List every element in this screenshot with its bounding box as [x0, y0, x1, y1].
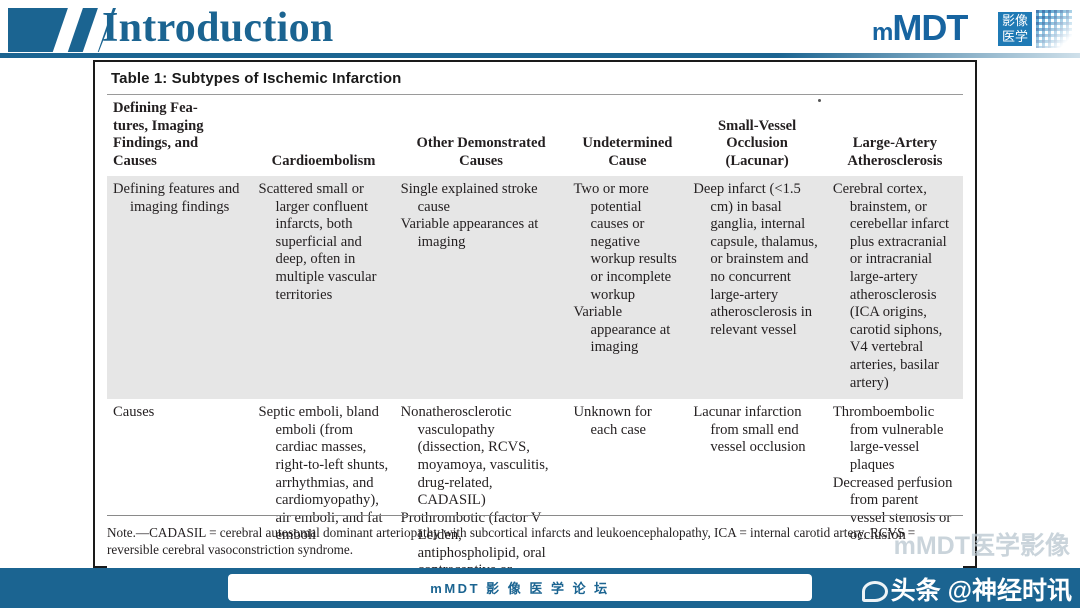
table-row: Defining features and imaging findingsSc…	[107, 176, 963, 399]
note-divider	[107, 515, 963, 516]
row-label-cell: Defining features and imaging findings	[107, 176, 253, 399]
slide-header: Introduction mMDT 影像 医学	[0, 0, 1080, 57]
stray-dot-artifact	[818, 99, 821, 102]
table-cell: Cerebral cortex, brainstem, or cerebella…	[827, 176, 963, 399]
cell-paragraph: Nonatherosclerotic vasculopathy (dissect…	[401, 404, 562, 510]
logo-pixel-grid-icon	[1036, 10, 1072, 48]
table-head: Defining Fea-tures, ImagingFindings, and…	[107, 95, 963, 176]
logo-chinese-badge: 影像 医学	[998, 12, 1032, 46]
table-cell: Scattered small or larger confluent infa…	[253, 176, 395, 399]
column-header-0: Defining Fea-tures, ImagingFindings, and…	[107, 95, 253, 176]
table-card: Table 1: Subtypes of Ischemic Infarction…	[93, 60, 977, 568]
cell-paragraph: Deep infarct (<1.5 cm) in basal ganglia,…	[693, 181, 821, 339]
row-label: Causes	[113, 404, 247, 422]
mmdt-logo: mMDT 影像 医学	[872, 6, 1072, 52]
footer-pill: mMDT 影 像 医 学 论 坛	[228, 574, 812, 601]
column-header-3: UndeterminedCause	[568, 95, 688, 176]
footer-bar: mMDT 影 像 医 学 论 坛	[0, 568, 1080, 608]
table-title: Table 1: Subtypes of Ischemic Infarction	[107, 62, 963, 94]
cell-paragraph: Unknown for each case	[574, 404, 682, 439]
logo-main: MDT	[892, 7, 967, 48]
table-header-row: Defining Fea-tures, ImagingFindings, and…	[107, 95, 963, 176]
column-header-2: Other DemonstratedCauses	[395, 95, 568, 176]
logo-cn-line1: 影像	[998, 13, 1032, 29]
header-decoration	[8, 8, 116, 52]
table-cell: Single explained stroke causeVariable ap…	[395, 176, 568, 399]
table-cell: Deep infarct (<1.5 cm) in basal ganglia,…	[687, 176, 827, 399]
cell-paragraph: Scattered small or larger confluent infa…	[259, 181, 389, 304]
cell-paragraph: Variable appearance at imaging	[574, 304, 682, 357]
cell-paragraph: Lacunar infarction from small end vessel…	[693, 404, 821, 457]
logo-cn-line2: 医学	[998, 29, 1032, 45]
page-title: Introduction	[102, 2, 334, 54]
row-label: Defining features and imaging findings	[113, 181, 247, 216]
cell-paragraph: Single explained stroke cause	[401, 181, 562, 216]
table-cell: Two or more potential causes or negative…	[568, 176, 688, 399]
cell-paragraph: Variable appearances at imaging	[401, 216, 562, 251]
cell-paragraph: Two or more potential causes or negative…	[574, 181, 682, 304]
column-header-4: Small-VesselOcclusion(Lacunar)	[687, 95, 827, 176]
cell-paragraph: Cerebral cortex, brainstem, or cerebella…	[833, 181, 957, 392]
logo-wordmark: mMDT	[872, 6, 967, 55]
column-header-5: Large-ArteryAtherosclerosis	[827, 95, 963, 176]
footer-pill-label: mMDT 影 像 医 学 论 坛	[430, 578, 609, 597]
column-header-1: Cardioembolism	[253, 95, 395, 176]
cell-paragraph: Thromboembolic from vulnerable large-ves…	[833, 404, 957, 474]
logo-prefix: m	[872, 19, 892, 46]
table-note: Note.—CADASIL = cerebral autosomal domin…	[107, 524, 963, 558]
